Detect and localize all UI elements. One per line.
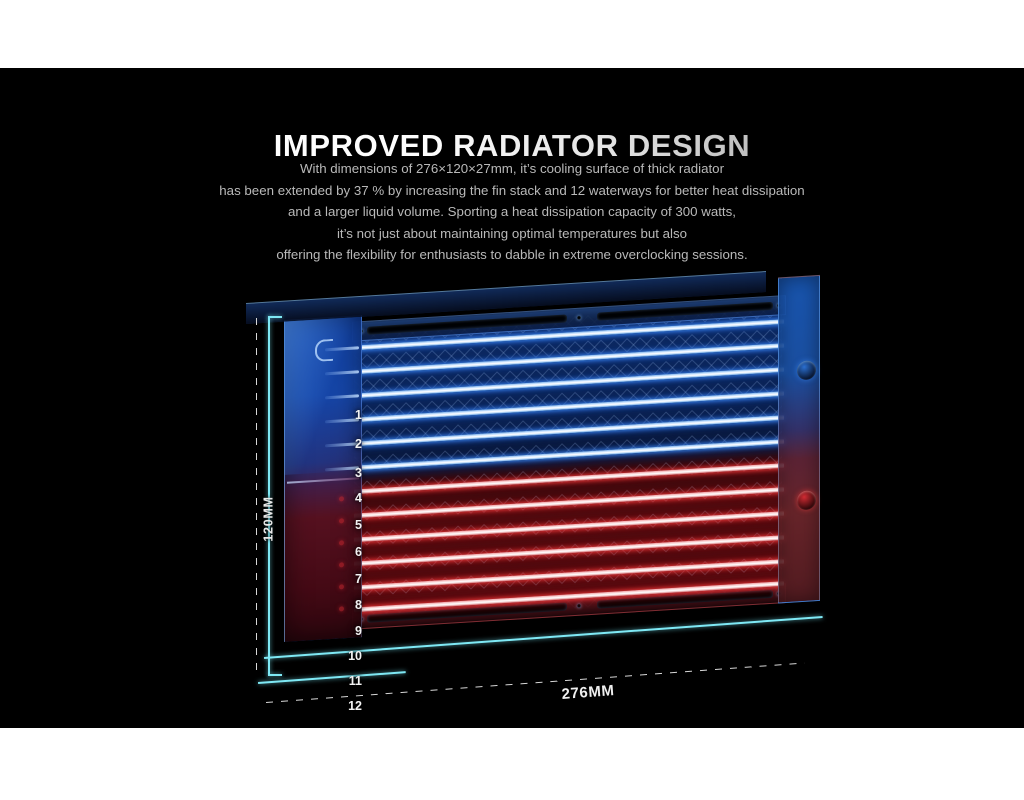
waterway-number-2: 2 bbox=[340, 437, 362, 451]
waterway-number-10: 10 bbox=[336, 649, 362, 663]
waterway-number-3: 3 bbox=[340, 466, 362, 480]
waterway-number-6: 6 bbox=[340, 545, 362, 559]
description-paragraph: With dimensions of 276×120×27mm, it’s co… bbox=[0, 158, 1024, 266]
description-line-3: and a larger liquid volume. Sporting a h… bbox=[0, 201, 1024, 223]
dimension-guide-vertical bbox=[256, 318, 257, 670]
radiator-illustration bbox=[230, 303, 850, 703]
dimension-tick-top bbox=[268, 316, 282, 318]
dimension-label-height: 120MM bbox=[262, 496, 276, 541]
description-line-2: has been extended by 37 % by increasing … bbox=[0, 180, 1024, 202]
waterway-number-11: 11 bbox=[336, 674, 362, 688]
inlet-port-icon bbox=[797, 360, 816, 380]
waterway-number-7: 7 bbox=[340, 572, 362, 586]
waterway-number-8: 8 bbox=[340, 598, 362, 612]
description-line-4: it’s not just about maintaining optimal … bbox=[0, 223, 1024, 245]
waterway-number-4: 4 bbox=[340, 491, 362, 505]
waterway-number-12: 12 bbox=[336, 699, 362, 713]
waterway-number-5: 5 bbox=[340, 518, 362, 532]
waterway-number-9: 9 bbox=[340, 624, 362, 638]
page-root: IMPROVED RADIATOR DESIGN With dimensions… bbox=[0, 0, 1024, 800]
dimension-tick-bottom bbox=[268, 674, 282, 676]
description-line-1: With dimensions of 276×120×27mm, it’s co… bbox=[0, 158, 1024, 180]
waterway-number-1: 1 bbox=[340, 408, 362, 422]
radiator-body bbox=[266, 283, 786, 645]
outlet-port-icon bbox=[797, 490, 816, 510]
tank-rivet bbox=[339, 562, 344, 567]
screw-hole-icon bbox=[577, 316, 581, 320]
content-panel: IMPROVED RADIATOR DESIGN With dimensions… bbox=[0, 68, 1024, 728]
screw-hole-icon bbox=[577, 604, 581, 608]
end-tank-right bbox=[778, 275, 820, 604]
description-line-5: offering the flexibility for enthusiasts… bbox=[0, 244, 1024, 266]
